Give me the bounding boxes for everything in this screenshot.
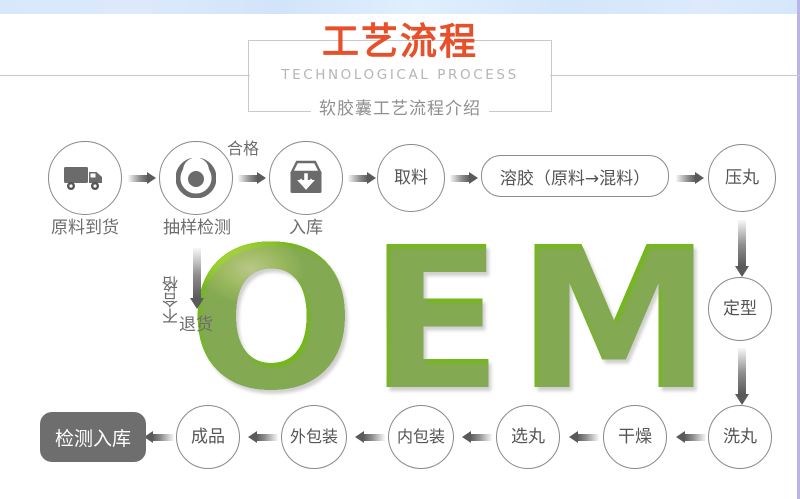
node-label-inner-packaging: 内包装 — [397, 429, 445, 445]
node-pill-pressing[interactable]: 压丸 — [708, 144, 776, 212]
node-return-goods: 退货 — [158, 315, 234, 335]
truck-icon — [63, 163, 107, 193]
node-label-drying: 干燥 — [618, 429, 652, 446]
arrow-pickup-to-dissolving — [450, 172, 478, 184]
node-material-pickup[interactable]: 取料 — [377, 144, 445, 212]
node-raw-material-arrival[interactable] — [48, 141, 122, 215]
page-subtitle-cn: 软胶囊工艺流程介绍 — [311, 98, 489, 120]
arrow-dissolving-to-pressing — [676, 172, 704, 184]
arrow-sampling-to-warehousing — [238, 172, 266, 184]
node-gel-dissolving[interactable]: 溶胶（原料→混料） — [481, 155, 669, 197]
edge-label-unqualified: 不合格 — [163, 256, 181, 324]
node-label-pill-pressing: 压丸 — [725, 170, 759, 187]
page-subtitle-wrap: 软胶囊工艺流程介绍 — [0, 98, 800, 120]
inbox-down-arrow-icon — [286, 160, 326, 196]
oem-watermark: OEM — [188, 228, 708, 413]
node-shaping[interactable]: 定型 — [708, 277, 772, 341]
node-drying[interactable]: 干燥 — [603, 405, 667, 469]
caption-raw-material-arrival: 原料到货 — [28, 218, 142, 238]
caption-sampling-inspection: 抽样检测 — [140, 218, 254, 238]
node-finished-product[interactable]: 成品 — [176, 405, 240, 469]
arrow-washing-to-drying — [676, 431, 706, 443]
node-inspection-warehousing[interactable]: 检测入库 — [40, 412, 146, 462]
arrow-outer-packaging-to-finished — [248, 431, 278, 443]
node-pill-sorting[interactable]: 选丸 — [496, 405, 560, 469]
arrow-sampling-to-return — [190, 248, 204, 310]
node-label-inspection-warehousing: 检测入库 — [55, 424, 131, 451]
caption-warehousing: 入库 — [255, 218, 357, 238]
node-label-gel-dissolving: 溶胶（原料→混料） — [500, 164, 650, 189]
header: 工艺流程 TECHNOLOGICAL PROCESS 软胶囊工艺流程介绍 — [0, 18, 800, 118]
node-label-material-pickup: 取料 — [394, 170, 428, 187]
arrow-shaping-to-washing — [735, 348, 749, 406]
node-label-shaping: 定型 — [723, 301, 757, 318]
node-inner-packaging[interactable]: 内包装 — [388, 405, 454, 469]
arrow-finished-to-inspection-warehousing — [144, 431, 174, 443]
node-label-pill-washing: 洗丸 — [723, 429, 757, 446]
node-label-pill-sorting: 选丸 — [511, 429, 545, 446]
arrow-drying-to-sorting — [569, 431, 599, 443]
node-sampling-inspection[interactable] — [159, 141, 233, 215]
edge-label-qualified: 合格 — [227, 140, 259, 158]
process-flow-infographic: 工艺流程 TECHNOLOGICAL PROCESS 软胶囊工艺流程介绍 OEM… — [0, 0, 800, 499]
arrow-sorting-to-inner-packaging — [462, 431, 492, 443]
page-title-en: TECHNOLOGICAL PROCESS — [0, 66, 800, 84]
node-pill-washing[interactable]: 洗丸 — [708, 405, 772, 469]
arrow-inner-to-outer-packaging — [355, 431, 385, 443]
node-warehousing[interactable] — [269, 141, 343, 215]
arrow-arrival-to-sampling — [128, 172, 156, 184]
node-outer-packaging[interactable]: 外包装 — [281, 405, 347, 469]
node-label-outer-packaging: 外包装 — [290, 429, 338, 445]
sampling-chuck-icon — [176, 158, 216, 198]
page-title-cn: 工艺流程 — [0, 20, 800, 64]
node-label-finished-product: 成品 — [191, 429, 225, 446]
arrow-warehousing-to-pickup — [348, 172, 376, 184]
top-decorative-band — [0, 0, 800, 14]
arrow-pressing-to-shaping — [735, 220, 749, 278]
